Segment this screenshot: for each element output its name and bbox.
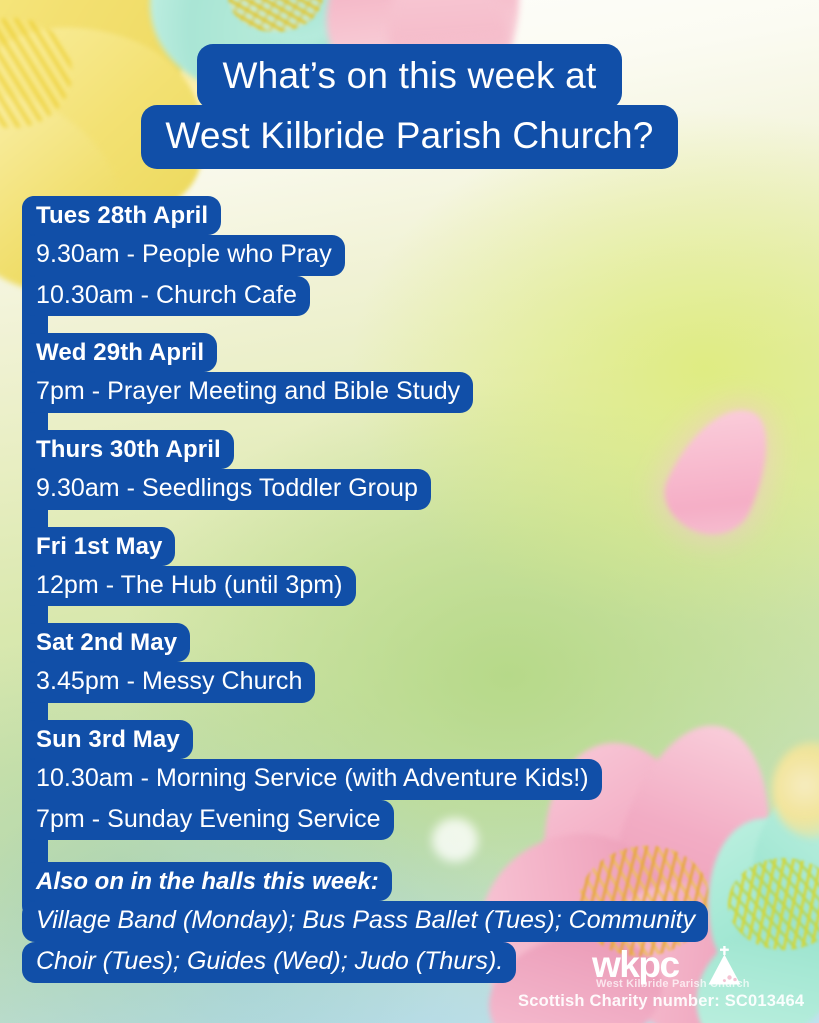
event-item: 9.30am - People who Pray [22,235,345,276]
day-heading: Sun 3rd May [22,720,193,759]
charity-number: Scottish Charity number: SC013464 [518,992,804,1011]
event-item: 7pm - Prayer Meeting and Bible Study [22,372,473,413]
schedule-group: Sun 3rd May 10.30am - Morning Service (w… [22,720,792,840]
schedule-group: Wed 29th April 7pm - Prayer Meeting and … [22,333,792,413]
schedule-list: Tues 28th April 9.30am - People who Pray… [22,196,792,983]
title-line-1: What’s on this week at [197,44,623,109]
day-heading: Tues 28th April [22,196,221,235]
halls-line: Village Band (Monday); Bus Pass Ballet (… [22,901,708,942]
day-heading: Thurs 30th April [22,430,234,469]
day-heading: Sat 2nd May [22,623,190,662]
halls-line: Choir (Tues); Guides (Wed); Judo (Thurs)… [22,942,516,983]
halls-heading: Also on in the halls this week: [22,862,392,901]
event-item: 3.45pm - Messy Church [22,662,315,703]
day-heading: Fri 1st May [22,527,175,566]
title-line-2: West Kilbride Parish Church? [141,105,677,170]
event-item: 7pm - Sunday Evening Service [22,800,394,841]
schedule-group: Fri 1st May 12pm - The Hub (until 3pm) [22,527,792,607]
event-item: 10.30am - Church Cafe [22,276,310,317]
event-item: 12pm - The Hub (until 3pm) [22,566,356,607]
schedule-group: Thurs 30th April 9.30am - Seedlings Todd… [22,430,792,510]
schedule-group: Sat 2nd May 3.45pm - Messy Church [22,623,792,703]
wkpc-logo: wkpc West Kilbride Parish Church [592,946,752,996]
logo-subtitle: West Kilbride Parish Church [596,978,750,990]
poster-canvas: What’s on this week at West Kilbride Par… [0,0,819,1023]
day-heading: Wed 29th April [22,333,217,372]
schedule-group: Tues 28th April 9.30am - People who Pray… [22,196,792,316]
poster-title: What’s on this week at West Kilbride Par… [0,44,819,169]
event-item: 10.30am - Morning Service (with Adventur… [22,759,602,800]
event-item: 9.30am - Seedlings Toddler Group [22,469,431,510]
